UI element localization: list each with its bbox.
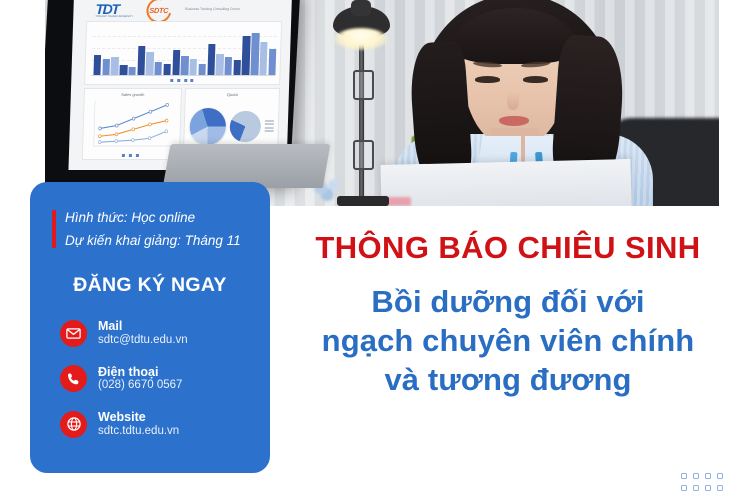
announcement-subtitle: Bồi dưỡng đối với ngạch chuyên viên chín… [282,282,734,399]
lamp-neck [351,0,371,16]
pie-chart-secondary [230,111,262,142]
course-start-line: Dự kiến khai giảng: Tháng 11 [65,231,248,250]
contact-website-value: sdtc.tdtu.edu.vn [98,425,179,439]
contact-mail[interactable]: Mail sdtc@tdtu.edu.vn [60,319,248,347]
globe-icon [60,411,87,438]
contact-phone[interactable]: Điện thoại (028) 6670 0567 [60,365,248,393]
contact-phone-label: Điện thoại [98,365,182,380]
dot [681,485,687,491]
screen-line-chart-title: Sales growth [85,92,181,97]
screen-line-chart-panel: Sales growth [82,88,182,160]
contact-mail-value: sdtc@tdtu.edu.vn [98,334,188,348]
poster-canvas: TDT TON DUC THANG UNIVERSITY SDTC Busine… [0,0,750,500]
lips [499,116,529,126]
screen-bar-chart-panel [84,21,282,85]
tdt-logo: TDT TON DUC THANG UNIVERSITY [95,2,133,19]
eye-left [475,76,500,83]
mail-icon [60,320,87,347]
contact-list: Mail sdtc@tdtu.edu.vn Điện thoại (028) 6… [52,319,248,438]
screen-logos: TDT TON DUC THANG UNIVERSITY SDTC Busine… [95,0,266,23]
dot [717,473,723,479]
announcement-text-block: THÔNG BÁO CHIÊU SINH Bồi dưỡng đối với n… [282,232,734,399]
pie-chart-primary [189,108,227,145]
screen-line-chart-legend [83,154,179,157]
contact-website-text: Website sdtc.tdtu.edu.vn [98,410,179,438]
lamp-joint-lower [353,140,374,170]
register-now-heading: ĐĂNG KÝ NGAY [52,274,248,297]
dot [705,485,711,491]
dot [693,485,699,491]
lamp-arm [359,36,364,204]
photo-banner: TDT TON DUC THANG UNIVERSITY SDTC Busine… [45,0,719,206]
course-meta: Hình thức: Học online Dự kiến khai giảng… [52,208,248,250]
announcement-subtitle-line-1: Bồi dưỡng đối với [282,282,734,321]
screen-bar-chart-axis [91,75,275,76]
phone-icon [60,365,87,392]
lamp-joint-upper [353,70,374,100]
announcement-title: THÔNG BÁO CHIÊU SINH [282,232,734,265]
contact-website[interactable]: Website sdtc.tdtu.edu.vn [60,410,248,438]
decorative-dot-grid [681,473,723,491]
paper-document [380,159,631,206]
tdt-logo-subtitle: TON DUC THANG UNIVERSITY [95,16,133,19]
contact-phone-value: (028) 6670 0567 [98,379,182,393]
sdtc-logo: SDTC [146,0,172,23]
screen-pie-chart-legend [265,120,274,132]
lamp-light-glow [335,28,387,50]
course-format-line: Hình thức: Học online [65,208,248,227]
screen-bar-chart-bars [93,31,276,75]
announcement-subtitle-line-2: ngạch chuyên viên chính [282,321,734,360]
registration-info-card: Hình thức: Học online Dự kiến khai giảng… [30,182,270,473]
sdtc-logo-text: SDTC [146,0,172,23]
contact-mail-text: Mail sdtc@tdtu.edu.vn [98,319,188,347]
contact-mail-label: Mail [98,319,188,334]
contact-website-label: Website [98,410,179,425]
woman-reading-document [405,0,705,206]
sdtc-logo-words: Business Training Consulting Center [185,7,240,12]
eye-right [523,76,548,83]
dot [693,473,699,479]
screen-line-chart-plot [91,99,176,150]
lamp-base [337,196,389,206]
nose [507,92,519,110]
dot [705,473,711,479]
desktop-monitor: TDT TON DUC THANG UNIVERSITY SDTC Busine… [45,0,300,184]
screen-pie-chart-title: Quota [186,92,279,97]
contact-phone-text: Điện thoại (028) 6670 0567 [98,365,182,393]
screen-bar-chart-legend [85,79,279,82]
announcement-subtitle-line-3: và tương đương [282,360,734,399]
dot [681,473,687,479]
dot [717,485,723,491]
